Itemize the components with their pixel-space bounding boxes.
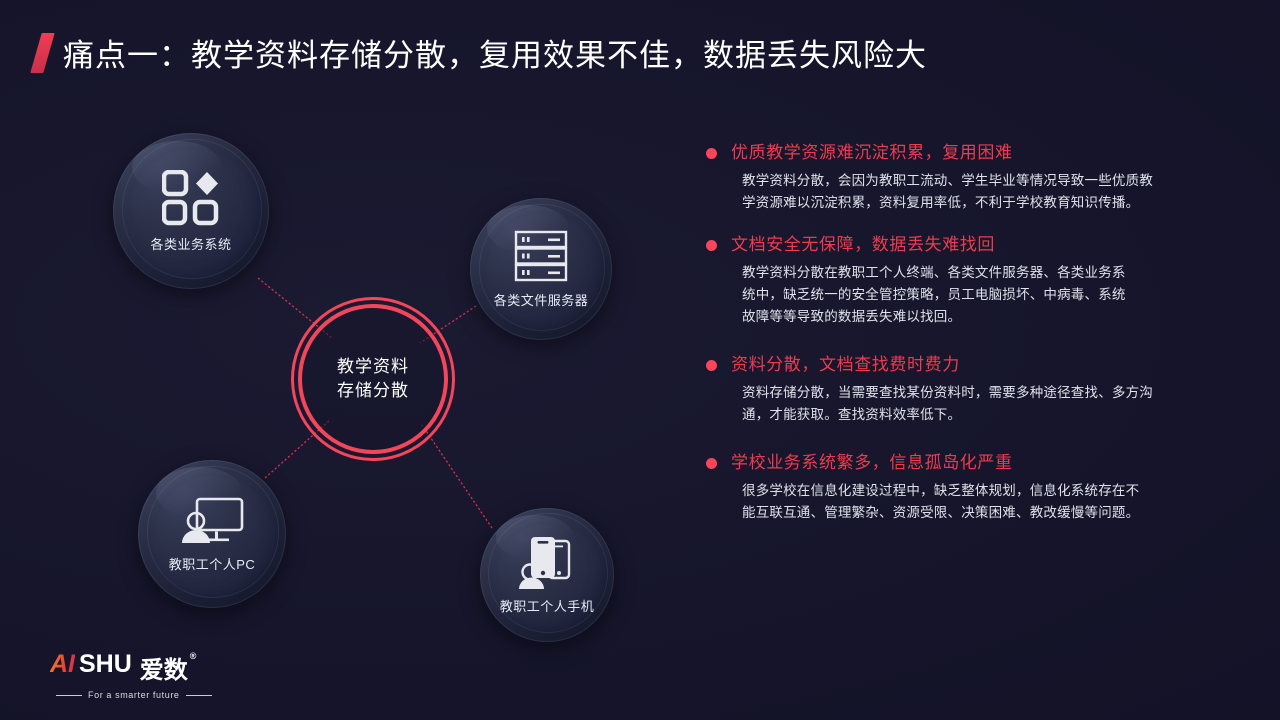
bullet-dot-icon bbox=[706, 148, 717, 159]
node-label: 教职工个人PC bbox=[169, 554, 256, 573]
center-line-2: 存储分散 bbox=[337, 379, 409, 403]
node-label: 教职工个人手机 bbox=[500, 596, 595, 615]
tagline-rule-left bbox=[56, 695, 82, 696]
bullet-dot-icon bbox=[706, 360, 717, 371]
pain-point-title: 学校业务系统繁多，信息孤岛化严重 bbox=[731, 452, 1013, 474]
pain-point-body: 资料存储分散，当需要查找某份资料时，需要多种途径查找、多方沟通，才能获取。查找资… bbox=[742, 382, 1160, 426]
node-staff-personal-pc[interactable]: 教职工个人PC bbox=[138, 460, 286, 608]
page-title: 痛点一：教学资料存储分散，复用效果不佳，数据丢失风险大 bbox=[36, 30, 927, 75]
title-text: 痛点一：教学资料存储分散，复用效果不佳，数据丢失风险大 bbox=[63, 30, 927, 75]
pain-point-item: 优质教学资源难沉淀积累，复用困难 教学资料分散，会因为教职工流动、学生毕业等情况… bbox=[706, 142, 1186, 214]
pain-point-body: 教学资料分散在教职工个人终端、各类文件服务器、各类业务系统中，缺乏统一的安全管控… bbox=[742, 262, 1132, 328]
pain-point-title: 文档安全无保障，数据丢失难找回 bbox=[731, 234, 995, 256]
desktop-user-icon bbox=[179, 496, 245, 548]
pain-point-body: 很多学校在信息化建设过程中，缺乏整体规划，信息化系统存在不能互联互通、管理繁杂、… bbox=[742, 480, 1140, 524]
slide-root: 痛点一：教学资料存储分散，复用效果不佳，数据丢失风险大 各类业务系统 bbox=[0, 0, 1280, 720]
pain-point-heading: 文档安全无保障，数据丢失难找回 bbox=[706, 234, 1186, 256]
logo-shu-text: SHU bbox=[79, 650, 132, 679]
pain-point-item: 学校业务系统繁多，信息孤岛化严重 很多学校在信息化建设过程中，缺乏整体规划，信息… bbox=[706, 452, 1186, 524]
logo-wordmark: AI SHU 爱数 ® bbox=[50, 650, 212, 685]
mobile-user-icon bbox=[518, 536, 576, 590]
server-rack-icon bbox=[514, 230, 568, 282]
tagline-rule-right bbox=[186, 695, 212, 696]
registered-mark-icon: ® bbox=[190, 651, 197, 661]
logo-tagline: For a smarter future bbox=[56, 690, 212, 700]
title-accent-slash bbox=[30, 33, 54, 73]
node-business-systems[interactable]: 各类业务系统 bbox=[113, 133, 269, 289]
bullet-dot-icon bbox=[706, 458, 717, 469]
tagline-text: For a smarter future bbox=[88, 690, 180, 700]
pain-point-list: 优质教学资源难沉淀积累，复用困难 教学资料分散，会因为教职工流动、学生毕业等情况… bbox=[706, 142, 1186, 542]
pain-point-body: 教学资料分散，会因为教职工流动、学生毕业等情况导致一些优质教学资源难以沉淀积累，… bbox=[742, 170, 1162, 214]
pain-point-title: 资料分散，文档查找费时费力 bbox=[731, 354, 960, 376]
logo-ai-text: AI bbox=[50, 650, 75, 679]
node-file-servers[interactable]: 各类文件服务器 bbox=[470, 198, 612, 340]
link-phone-to-center bbox=[422, 425, 492, 528]
pain-point-heading: 优质教学资源难沉淀积累，复用困难 bbox=[706, 142, 1186, 164]
brand-logo: AI SHU 爱数 ® For a smarter future bbox=[50, 650, 212, 700]
pain-point-item: 文档安全无保障，数据丢失难找回 教学资料分散在教职工个人终端、各类文件服务器、各… bbox=[706, 234, 1186, 328]
pain-point-heading: 资料分散，文档查找费时费力 bbox=[706, 354, 1186, 376]
hub-and-spoke-diagram: 各类业务系统 bbox=[80, 110, 700, 650]
logo-cn-text: 爱数 bbox=[140, 650, 188, 685]
node-staff-personal-mobile[interactable]: 教职工个人手机 bbox=[480, 508, 614, 642]
node-label: 各类文件服务器 bbox=[494, 290, 589, 309]
pain-point-item: 资料分散，文档查找费时费力 资料存储分散，当需要查找某份资料时，需要多种途径查找… bbox=[706, 354, 1186, 426]
diagram-center-hub: 教学资料 存储分散 bbox=[298, 304, 448, 454]
center-hub-text: 教学资料 存储分散 bbox=[337, 355, 409, 403]
pain-point-title: 优质教学资源难沉淀积累，复用困难 bbox=[731, 142, 1013, 164]
pain-point-heading: 学校业务系统繁多，信息孤岛化严重 bbox=[706, 452, 1186, 474]
app-blocks-icon bbox=[162, 170, 220, 226]
node-label: 各类业务系统 bbox=[150, 234, 231, 253]
center-line-1: 教学资料 bbox=[337, 355, 409, 379]
bullet-dot-icon bbox=[706, 240, 717, 251]
